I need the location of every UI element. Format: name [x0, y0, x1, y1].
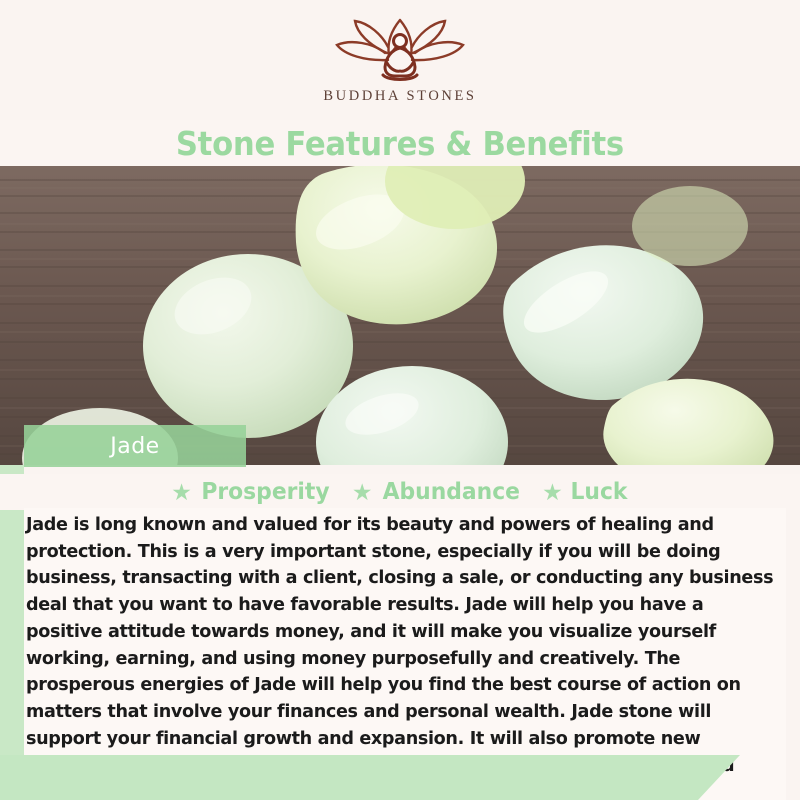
star-icon: ★ [171, 481, 192, 504]
lotus-meditation-icon [325, 15, 475, 83]
stone-name-band: Jade [24, 425, 246, 467]
decor-frame-bottom [0, 755, 740, 800]
benefit-label: Luck [570, 479, 627, 505]
brand-header: BUDDHA STONES [0, 0, 800, 120]
benefit-label: Prosperity [201, 479, 329, 505]
page-title: Stone Features & Benefits [176, 124, 624, 163]
stone-name-label: Jade [110, 434, 159, 459]
brand-name: BUDDHA STONES [323, 88, 476, 105]
benefit-item-abundance: ★ Abundance [352, 479, 523, 505]
benefit-label: Abundance [382, 479, 519, 505]
stone-photo [0, 166, 800, 465]
benefits-row: ★ Prosperity ★ Abundance ★ Luck [0, 474, 800, 510]
star-icon: ★ [352, 481, 373, 504]
benefit-item-luck: ★ Luck [542, 479, 629, 505]
benefit-item-prosperity: ★ Prosperity [171, 479, 333, 505]
star-icon: ★ [542, 481, 563, 504]
stone-info-poster: BUDDHA STONES Stone Features & Benefits [0, 0, 800, 800]
title-banner: Stone Features & Benefits [0, 120, 800, 166]
